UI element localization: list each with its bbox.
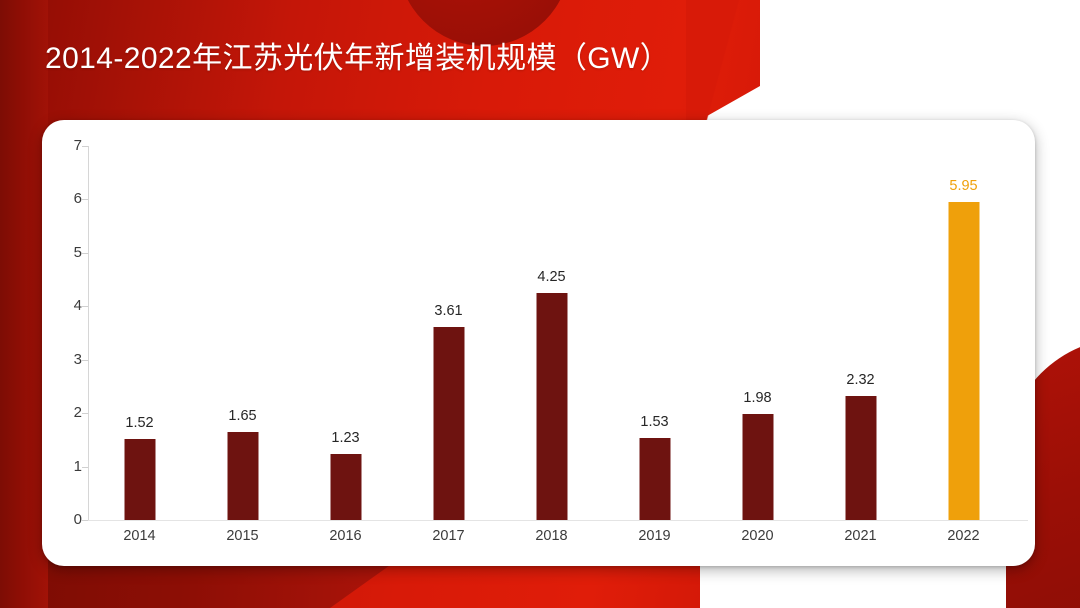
y-axis-tick-label: 6 [42,190,82,207]
page-title: 2014-2022年江苏光伏年新增装机规模（GW） [45,40,670,78]
x-axis-category-label: 2015 [191,528,294,544]
bar-series: 1.521.651.233.614.251.531.982.325.95 [88,146,1028,520]
bar-value-label: 5.95 [949,178,977,194]
slide-canvas: 2014-2022年江苏光伏年新增装机规模（GW） 01234567 1.521… [0,0,1080,608]
bar[interactable] [742,414,773,520]
bar-chart: 01234567 1.521.651.233.614.251.531.982.3… [42,120,1035,566]
bar[interactable] [124,439,155,520]
bar[interactable] [227,432,258,520]
bar-slot: 2.32 [809,146,912,520]
bar[interactable] [948,202,979,520]
bar-value-label: 2.32 [846,372,874,388]
y-axis-tick-label: 1 [42,458,82,475]
y-axis-tick [82,520,88,521]
bar-slot: 4.25 [500,146,603,520]
bar-slot: 1.52 [88,146,191,520]
bar-value-label: 1.65 [228,408,256,424]
bar-value-label: 4.25 [537,269,565,285]
y-axis-tick-label: 2 [42,404,82,421]
bar-slot: 1.23 [294,146,397,520]
x-axis-category-label: 2018 [500,528,603,544]
x-axis-line [88,520,1028,521]
y-axis-tick-label: 4 [42,297,82,314]
bar-slot: 3.61 [397,146,500,520]
bar[interactable] [536,293,567,520]
chart-card: 01234567 1.521.651.233.614.251.531.982.3… [42,120,1035,566]
bar-slot: 5.95 [912,146,1015,520]
bar[interactable] [639,438,670,520]
y-axis-tick-label: 7 [42,137,82,154]
bar[interactable] [845,396,876,520]
x-axis-category-label: 2016 [294,528,397,544]
y-axis-tick-label: 3 [42,351,82,368]
bar-value-label: 1.23 [331,430,359,446]
decorative-left-strip [0,0,48,608]
bar-value-label: 3.61 [434,303,462,319]
bar-value-label: 1.98 [743,390,771,406]
bar-slot: 1.53 [603,146,706,520]
x-axis-category-label: 2014 [88,528,191,544]
decorative-red-angle [686,0,776,130]
x-axis-category-label: 2021 [809,528,912,544]
x-axis-category-label: 2017 [397,528,500,544]
y-axis-tick-label: 0 [42,511,82,528]
x-axis-category-label: 2022 [912,528,1015,544]
x-axis-category-label: 2019 [603,528,706,544]
x-axis-category-label: 2020 [706,528,809,544]
bar-value-label: 1.52 [125,415,153,431]
bar-slot: 1.98 [706,146,809,520]
y-axis-tick-label: 5 [42,244,82,261]
bar-value-label: 1.53 [640,414,668,430]
bar[interactable] [330,454,361,520]
bar-slot: 1.65 [191,146,294,520]
bar[interactable] [433,327,464,520]
